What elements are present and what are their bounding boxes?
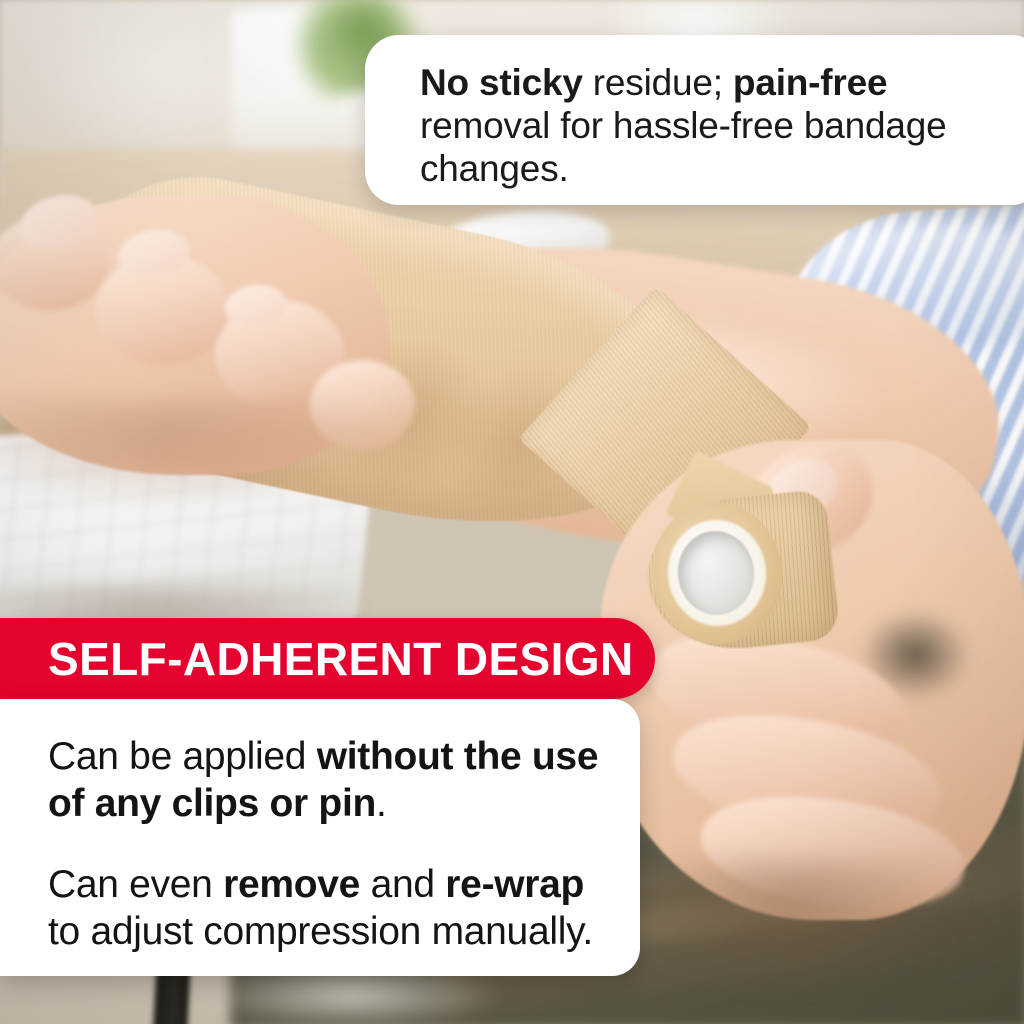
feature-paragraph-2: Can even remove and re-wrap to adjust co… xyxy=(48,861,610,955)
marketing-image: No sticky residue; pain-free removal for… xyxy=(0,0,1024,1024)
callout-card-top: No sticky residue; pain-free removal for… xyxy=(365,35,1024,205)
fist-shadow xyxy=(0,400,380,510)
callout-top-text: No sticky residue; pain-free removal for… xyxy=(420,61,1005,190)
section-banner: SELF-ADHERENT DESIGN xyxy=(0,618,655,699)
banner-title: SELF-ADHERENT DESIGN xyxy=(48,632,634,686)
feature-paragraph-1: Can be applied without the use of any cl… xyxy=(48,733,610,827)
feature-panel-bottom: Can be applied without the use of any cl… xyxy=(0,699,640,976)
right-hand-shadow xyxy=(620,860,960,990)
